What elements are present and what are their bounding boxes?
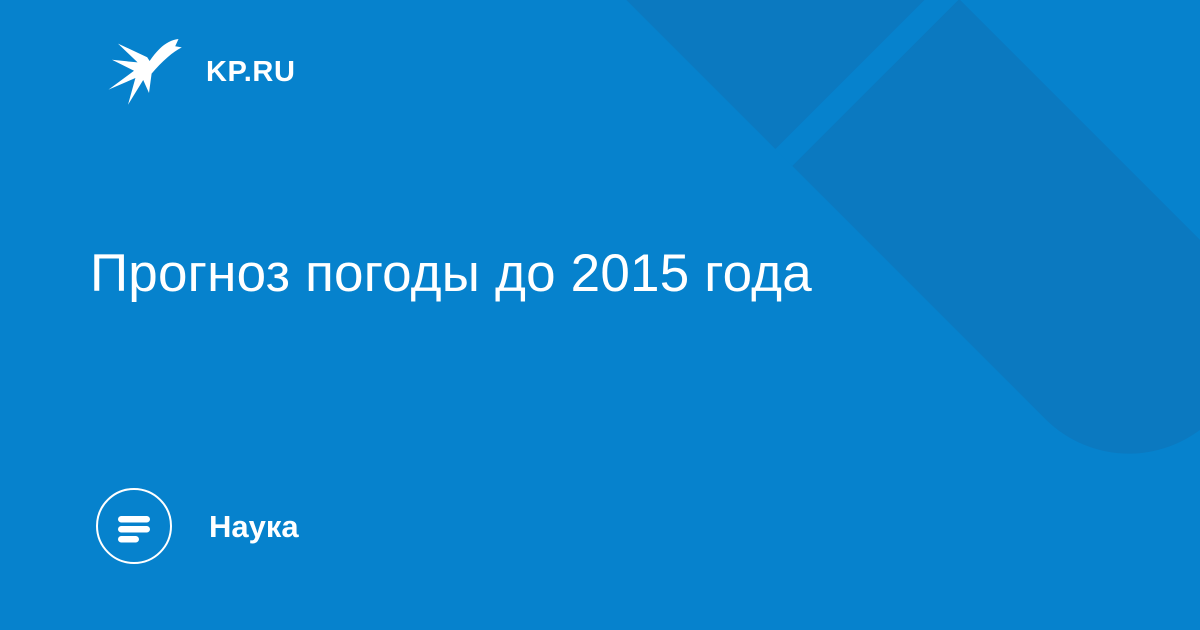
hamburger-lines-circle-icon bbox=[95, 487, 173, 565]
rubric-label: Наука bbox=[209, 511, 299, 542]
brand-logo[interactable]: KP.RU bbox=[108, 36, 296, 108]
swallow-bird-icon bbox=[108, 37, 184, 107]
brand-name: KP.RU bbox=[206, 58, 296, 87]
social-share-card: KP.RU Прогноз погоды до 2015 года Наука bbox=[0, 0, 1200, 630]
rubric-link[interactable]: Наука bbox=[95, 486, 299, 566]
page-title: Прогноз погоды до 2015 года bbox=[90, 243, 1100, 306]
